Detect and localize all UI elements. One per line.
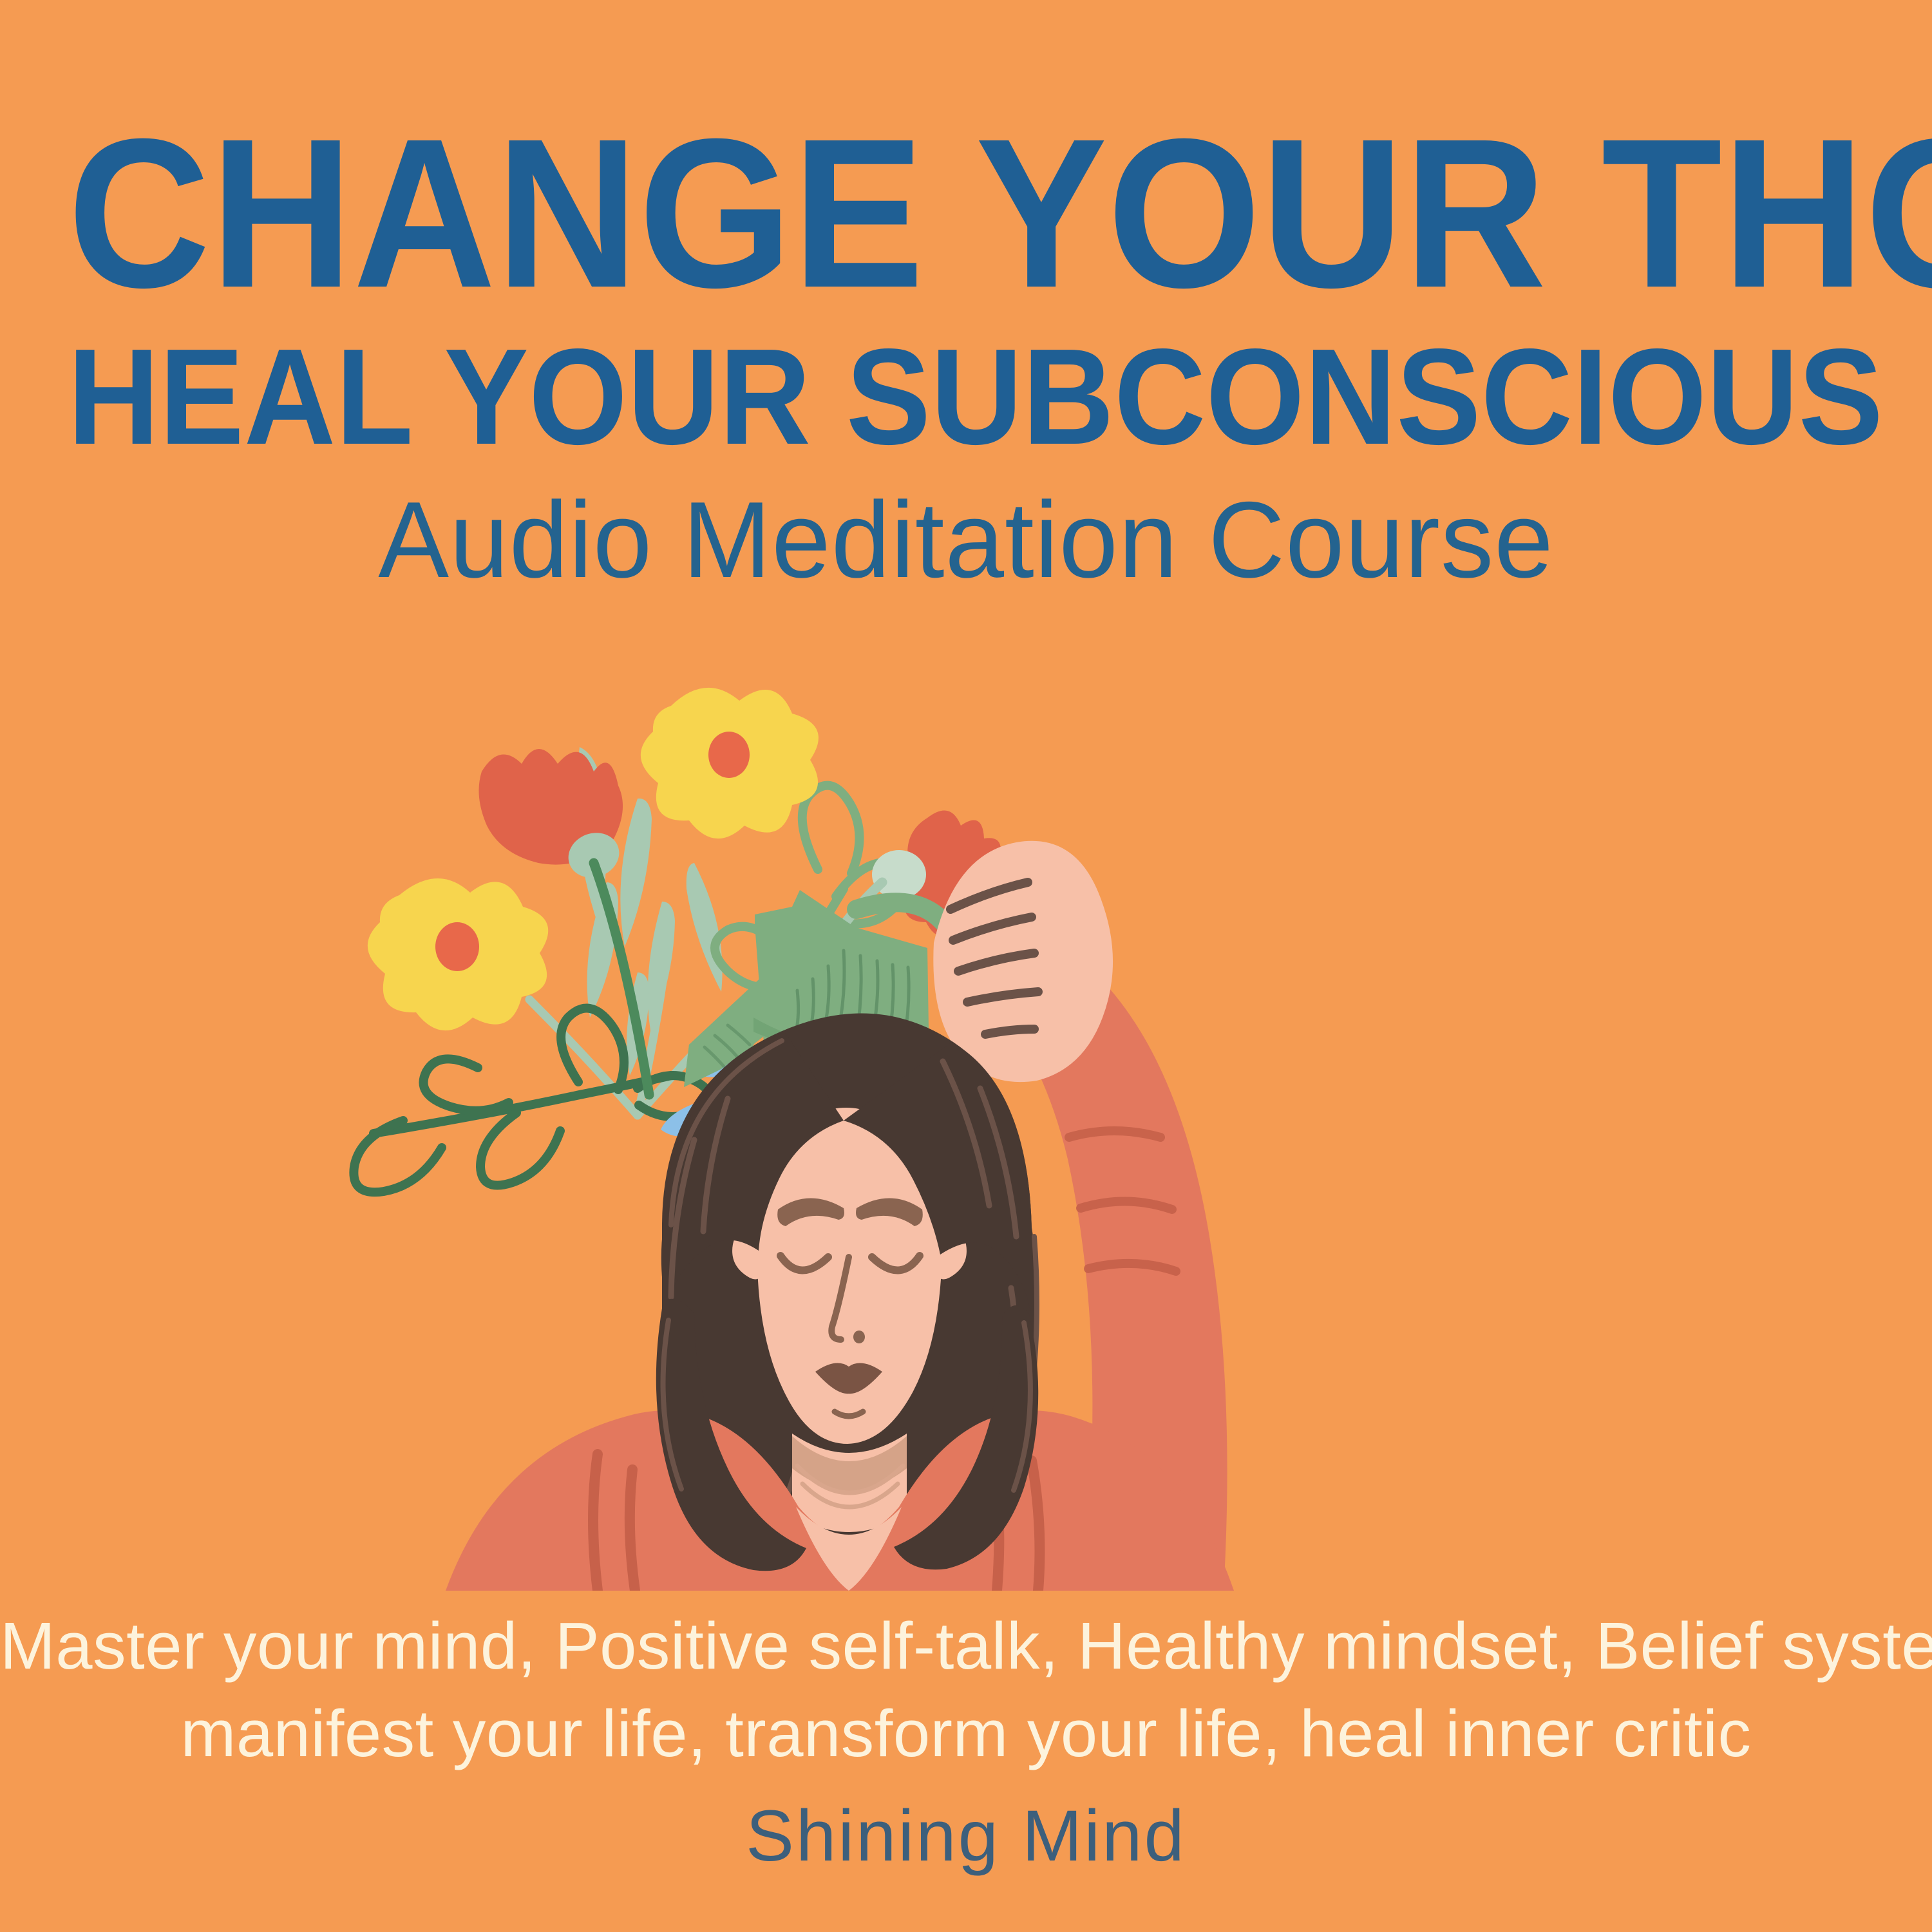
page-title: CHANGE YOUR THOUGHT <box>68 0 1864 301</box>
description-line-2: manifest your life, transform your life,… <box>0 1690 1932 1777</box>
audiobook-cover: CHANGE YOUR THOUGHT HEAL YOUR SUBCONSCIO… <box>0 0 1932 1932</box>
sage-leaf-sprigs-right <box>687 863 723 992</box>
cover-illustration <box>277 670 1655 1591</box>
page-subtitle: HEAL YOUR SUBCONSCIOUS <box>68 301 1864 455</box>
nostril <box>853 1331 865 1343</box>
description-line-1: Master your mind, Positive self-talk, He… <box>0 1602 1932 1690</box>
red-tulip <box>479 749 626 885</box>
yellow-flower-left <box>368 878 548 1030</box>
yellow-flower-top <box>641 688 819 838</box>
title-block: CHANGE YOUR THOUGHT HEAL YOUR SUBCONSCIO… <box>0 0 1932 589</box>
page-tagline: Audio Meditation Course <box>19 455 1913 589</box>
author-name: Shining Mind <box>0 1794 1932 1877</box>
description-block: Master your mind, Positive self-talk, He… <box>0 1602 1932 1777</box>
